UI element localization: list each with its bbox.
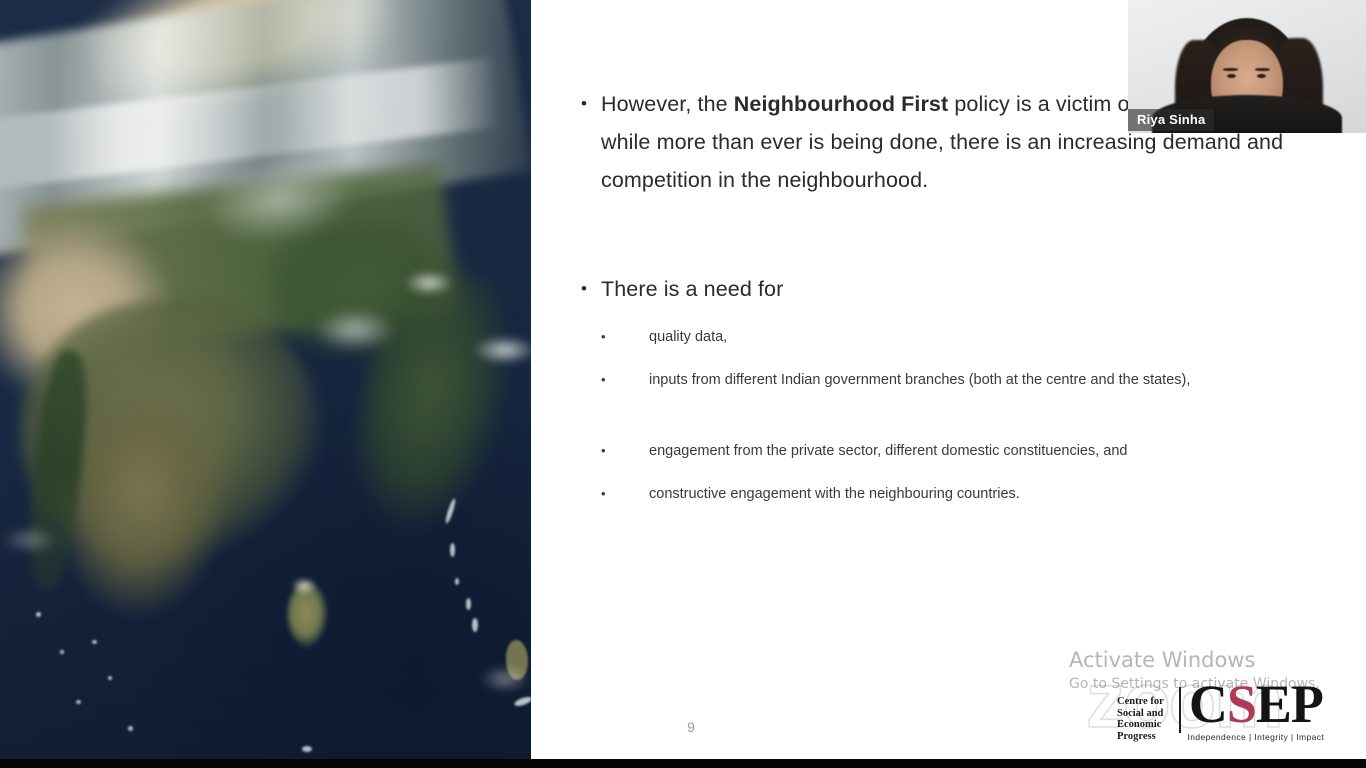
csep-logo-divider	[1179, 687, 1181, 733]
csep-logo-line-3: Economic	[1117, 719, 1173, 731]
shared-screen-map-image	[0, 0, 531, 760]
slide-sub-bullet-2: • inputs from different Indian governmen…	[601, 366, 1281, 394]
map-island	[128, 726, 133, 731]
participant-video-tile[interactable]: Riya Sinha	[1128, 0, 1366, 133]
zoom-meeting-screen: • However, the Neighbourhood First polic…	[0, 0, 1366, 768]
map-cloud	[0, 520, 70, 560]
map-cloud	[394, 266, 464, 300]
bullet-marker-icon: •	[601, 323, 649, 351]
slide-bullet-2: • There is a need for	[581, 270, 1321, 308]
map-island	[472, 618, 478, 632]
bullet-marker-icon: •	[601, 366, 649, 394]
csep-letter-s: S	[1227, 679, 1256, 729]
slide-sub-bullet-4-text: constructive engagement with the neighbo…	[649, 480, 1020, 508]
slide-sub-bullet-4: • constructive engagement with the neigh…	[601, 480, 1281, 508]
map-island	[450, 543, 455, 557]
bullet-marker-icon: •	[581, 85, 601, 123]
csep-logo-acronym-block: CSEP Independence | Integrity | Impact	[1188, 679, 1325, 742]
activate-windows-title: Activate Windows	[1069, 648, 1366, 672]
slide-bullet-2-text: There is a need for	[601, 270, 783, 308]
participant-name-label: Riya Sinha	[1128, 109, 1214, 131]
slide-page-number: 9	[671, 719, 711, 735]
csep-logo: Centre for Social and Economic Progress …	[1117, 679, 1324, 742]
participant-eye-right	[1257, 74, 1266, 78]
map-island	[36, 612, 41, 617]
map-cloud	[460, 330, 531, 370]
map-island	[92, 640, 97, 644]
map-island	[302, 746, 312, 752]
bullet-marker-icon: •	[581, 270, 601, 308]
map-landmass	[0, 0, 531, 670]
map-island	[76, 700, 81, 704]
participant-eyebrow-right	[1255, 68, 1270, 71]
csep-logo-line-1: Centre for	[1117, 696, 1173, 708]
map-cloud	[470, 660, 531, 698]
bullet-1-bold-phrase: Neighbourhood First	[734, 92, 949, 116]
csep-letter-c: C	[1189, 679, 1227, 729]
map-palk-strait-haze	[291, 577, 317, 595]
participant-eyebrow-left	[1223, 68, 1238, 71]
bullet-1-prefix: However, the	[601, 92, 734, 116]
csep-letter-p: P	[1291, 679, 1323, 729]
csep-logo-tagline: Independence | Integrity | Impact	[1188, 732, 1325, 742]
slide-sub-bullet-3-text: engagement from the private sector, diff…	[649, 437, 1128, 465]
map-island	[108, 676, 112, 680]
participant-eye-left	[1227, 74, 1236, 78]
csep-letter-e: E	[1256, 679, 1291, 729]
csep-logo-line-2: Social and	[1117, 708, 1173, 720]
map-island	[455, 578, 459, 585]
csep-logo-acronym: CSEP	[1189, 679, 1323, 729]
slide-sub-bullet-1-text: quality data,	[649, 323, 727, 351]
map-cloud-haze-east	[295, 300, 415, 360]
csep-logo-fullname: Centre for Social and Economic Progress	[1117, 696, 1179, 742]
bullet-marker-icon: •	[601, 437, 649, 465]
csep-logo-line-4: Progress	[1117, 731, 1173, 743]
slide-sub-bullet-1: • quality data,	[601, 323, 1281, 351]
slide-sub-bullet-2-text: inputs from different Indian government …	[649, 366, 1190, 394]
map-island	[60, 650, 64, 654]
map-island	[466, 598, 471, 610]
bullet-marker-icon: •	[601, 480, 649, 508]
screen-bottom-bar	[0, 759, 1366, 768]
slide-sub-bullet-3: • engagement from the private sector, di…	[601, 437, 1281, 465]
